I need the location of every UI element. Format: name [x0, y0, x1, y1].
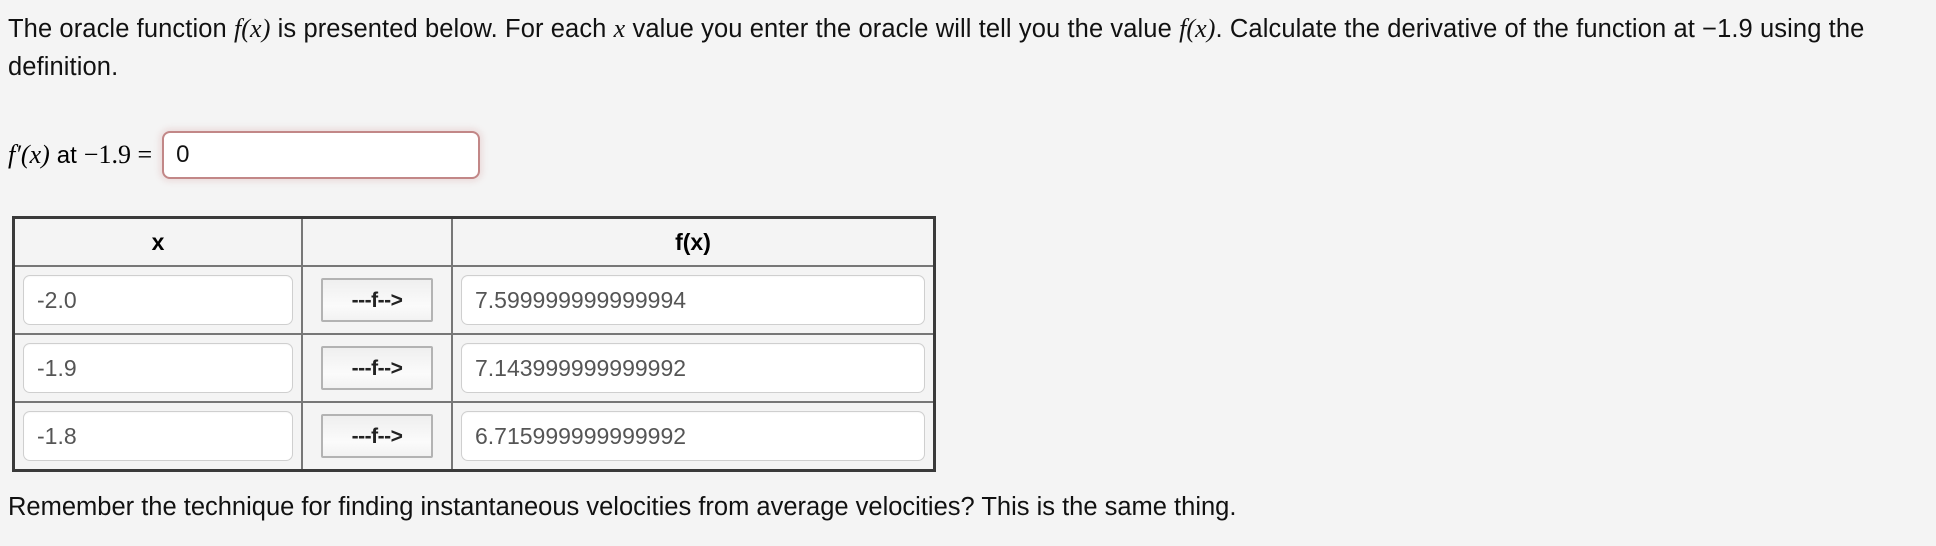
cell-x — [14, 402, 303, 471]
cell-action: ---f--> — [302, 266, 452, 334]
fx-output-row-1[interactable] — [461, 275, 925, 325]
fx-output-row-3[interactable] — [461, 411, 925, 461]
answer-label-at: at — [57, 142, 77, 169]
prompt-text-part3: value you enter the oracle will tell you… — [625, 15, 1179, 43]
prompt-math-x: x — [614, 14, 626, 43]
answer-label-fprime: f′(x) — [8, 140, 50, 169]
cell-action-wrap: ---f--> — [303, 335, 451, 401]
prompt-text-part2: is presented below. For each — [270, 15, 613, 43]
cell-fx-wrap — [453, 403, 933, 469]
cell-x-wrap — [15, 335, 301, 401]
column-header-action — [302, 218, 452, 267]
cell-action: ---f--> — [302, 334, 452, 402]
cell-fx — [452, 266, 935, 334]
fx-output-row-2[interactable] — [461, 343, 925, 393]
hint-note: Remember the technique for finding insta… — [8, 490, 1236, 524]
cell-fx-wrap — [453, 267, 933, 333]
column-header-x: x — [14, 218, 303, 267]
answer-label: f′(x) at −1.9 = — [8, 141, 162, 169]
table-row: ---f--> — [14, 334, 935, 402]
exercise-page: The oracle function f(x) is presented be… — [0, 0, 1936, 546]
prompt-text-part1: The oracle function — [8, 15, 234, 43]
prompt-math-fx-2: f(x) — [1179, 14, 1215, 43]
table-header-row: x f(x) — [14, 218, 935, 267]
evaluate-f-button-row-3[interactable]: ---f--> — [321, 414, 433, 458]
problem-statement: The oracle function f(x) is presented be… — [8, 10, 1918, 86]
answer-row: f′(x) at −1.9 = — [8, 125, 480, 185]
cell-x-wrap — [15, 267, 301, 333]
cell-fx — [452, 334, 935, 402]
cell-x — [14, 266, 303, 334]
cell-action-wrap: ---f--> — [303, 267, 451, 333]
cell-fx-wrap — [453, 335, 933, 401]
table-head: x f(x) — [14, 218, 935, 267]
evaluate-f-button-row-2[interactable]: ---f--> — [321, 346, 433, 390]
oracle-table: x f(x) ---f--> — [12, 216, 936, 472]
cell-action-wrap: ---f--> — [303, 403, 451, 469]
table-row: ---f--> — [14, 402, 935, 471]
cell-x-wrap — [15, 403, 301, 469]
evaluate-f-button-row-1[interactable]: ---f--> — [321, 278, 433, 322]
x-input-row-1[interactable] — [23, 275, 293, 325]
prompt-math-fx-1: f(x) — [234, 14, 270, 43]
table-body: ---f--> ---f--> — [14, 266, 935, 471]
cell-action: ---f--> — [302, 402, 452, 471]
cell-fx — [452, 402, 935, 471]
x-input-row-3[interactable] — [23, 411, 293, 461]
x-input-row-2[interactable] — [23, 343, 293, 393]
column-header-fx: f(x) — [452, 218, 935, 267]
answer-label-point: −1.9 = — [84, 140, 152, 169]
cell-x — [14, 334, 303, 402]
table-row: ---f--> — [14, 266, 935, 334]
derivative-answer-input[interactable] — [162, 131, 480, 179]
